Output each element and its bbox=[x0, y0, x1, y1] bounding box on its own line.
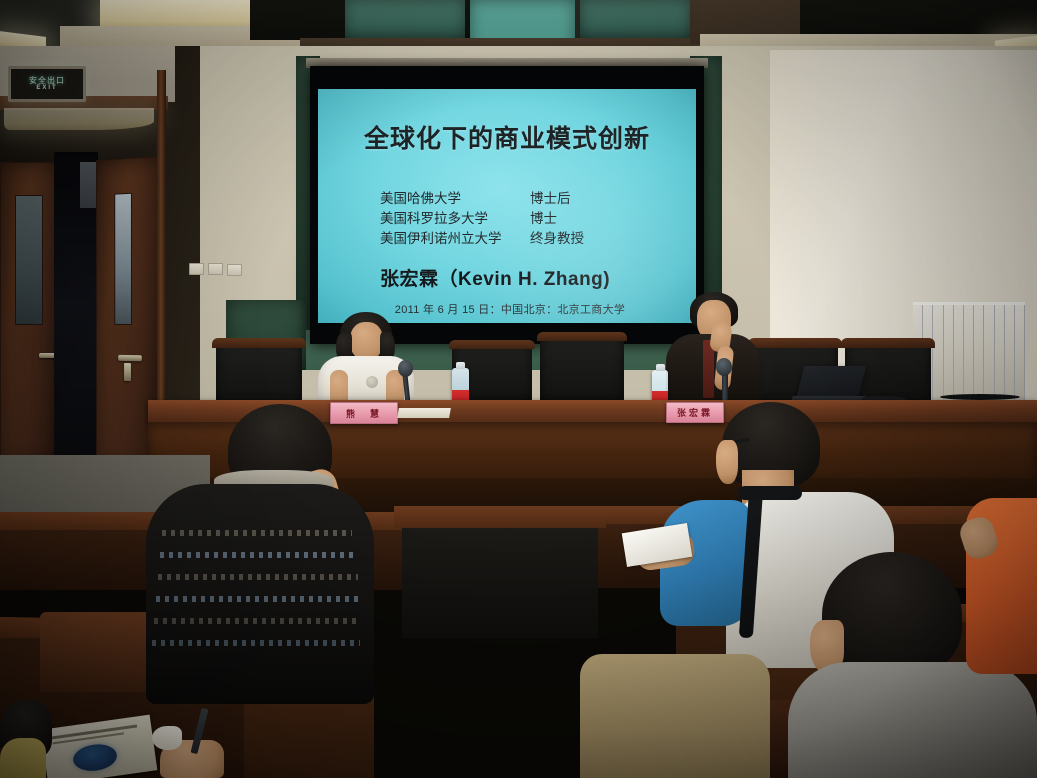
panel-chair-1[interactable] bbox=[216, 342, 302, 404]
lecture-hall-photo: 安全出口 EXIT 全球化下的商业模式创新 美国哈佛大学 博士后 美国科罗拉多大… bbox=[0, 0, 1037, 778]
name-placard-left: 熊 慧 bbox=[330, 402, 398, 424]
wall-switch-2[interactable] bbox=[208, 263, 223, 275]
slide-credential-row: 美国哈佛大学 博士后 bbox=[380, 189, 680, 209]
doorway-light-patch bbox=[80, 162, 96, 208]
ceiling-panel-teal-3 bbox=[580, 0, 690, 40]
door-left-glass-lite bbox=[15, 195, 43, 325]
radiator-fin bbox=[974, 305, 984, 401]
door-left-leaf[interactable] bbox=[0, 162, 58, 464]
projection-screen-frame: 全球化下的商业模式创新 美国哈佛大学 博士后 美国科罗拉多大学 博士 美国伊利诺… bbox=[310, 66, 704, 344]
audience-2-trousers bbox=[580, 654, 770, 778]
chair-trim bbox=[537, 332, 627, 341]
name-placard-right: 张宏霖 bbox=[666, 402, 724, 423]
credential-degree: 博士 bbox=[530, 209, 640, 229]
microphone-head-left bbox=[398, 360, 413, 377]
radiator-fin bbox=[1015, 305, 1025, 401]
slide-credential-row: 美国伊利诺州立大学 终身教授 bbox=[380, 229, 680, 249]
projection-screen-surface: 全球化下的商业模式创新 美国哈佛大学 博士后 美国科罗拉多大学 博士 美国伊利诺… bbox=[318, 89, 696, 323]
radiator-fin bbox=[944, 305, 954, 401]
name-placard-left-text: 熊 慧 bbox=[346, 407, 382, 420]
wall-switch-1[interactable] bbox=[189, 263, 204, 275]
audience-1-pattern-band bbox=[152, 640, 360, 646]
chair-trim bbox=[449, 340, 535, 349]
radiator-fin bbox=[995, 305, 1005, 401]
audience-1-pattern-band bbox=[160, 552, 356, 558]
slide-credentials-list: 美国哈佛大学 博士后 美国科罗拉多大学 博士 美国伊利诺州立大学 终身教授 bbox=[380, 189, 680, 249]
bottle-cap bbox=[456, 362, 465, 369]
ceiling-recess-right bbox=[800, 0, 1037, 36]
name-placard-right-text: 张宏霖 bbox=[677, 406, 713, 419]
tissue bbox=[152, 726, 182, 750]
audience-1-pattern-band bbox=[162, 530, 352, 536]
slide-credential-row: 美国科罗拉多大学 博士 bbox=[380, 209, 680, 229]
credential-institution: 美国哈佛大学 bbox=[380, 189, 530, 209]
laptop-screen[interactable] bbox=[796, 366, 866, 400]
door-right-handle[interactable] bbox=[118, 355, 142, 361]
credential-degree: 博士后 bbox=[530, 189, 640, 209]
slide-speaker-name: 张宏霖（Kevin H. Zhang) bbox=[380, 264, 680, 291]
bottle-cap bbox=[656, 364, 665, 371]
wall-switch-3[interactable] bbox=[227, 264, 242, 276]
door-right-lock-plate bbox=[124, 363, 131, 381]
radiator-fin bbox=[933, 305, 943, 401]
center-podium-top bbox=[394, 506, 606, 528]
ceiling-panel-teal-1 bbox=[345, 0, 465, 40]
panelist-left-face bbox=[350, 322, 383, 360]
radiator-fin bbox=[1005, 305, 1015, 401]
audience-1-pattern-band bbox=[156, 596, 360, 602]
papers-on-table bbox=[397, 408, 451, 418]
slide-date-line: 2011 年 6 月 15 日：中国北京：北京工商大学 bbox=[340, 301, 680, 317]
panel-chair-3[interactable] bbox=[540, 336, 624, 402]
door-right-glass-lite bbox=[114, 193, 132, 325]
audience-1-pattern-band bbox=[154, 618, 360, 624]
radiator-fin bbox=[984, 305, 994, 401]
radiator-fin bbox=[964, 305, 974, 401]
exit-sign-chinese-label: 安全出口 bbox=[29, 76, 65, 85]
panelist-left-brooch bbox=[366, 376, 378, 388]
exit-sign: 安全出口 EXIT bbox=[8, 66, 86, 102]
slide-title: 全球化下的商业模式创新 bbox=[318, 119, 696, 155]
door-cove-light bbox=[4, 108, 154, 130]
book-globe-graphic-icon bbox=[71, 742, 118, 774]
audience-3-tshirt bbox=[788, 662, 1037, 778]
open-doorway-gap bbox=[54, 152, 98, 464]
credential-institution: 美国科罗拉多大学 bbox=[380, 209, 530, 229]
chair-trim bbox=[841, 338, 935, 348]
foreground-person-shirt bbox=[0, 738, 46, 778]
audience-1-pattern-band bbox=[158, 574, 358, 580]
audience-1-shirt bbox=[146, 484, 374, 704]
exit-sign-english-label: EXIT bbox=[36, 85, 57, 92]
credential-degree: 终身教授 bbox=[530, 229, 640, 249]
microphone-head-right bbox=[716, 358, 732, 376]
chair-trim bbox=[212, 338, 306, 348]
radiator-fin bbox=[954, 305, 964, 401]
audience-2-face-edge bbox=[716, 440, 738, 484]
audience-2-collar bbox=[738, 486, 802, 500]
credential-institution: 美国伊利诺州立大学 bbox=[380, 229, 530, 249]
chair-trim bbox=[748, 338, 842, 348]
center-podium-face bbox=[402, 528, 598, 638]
